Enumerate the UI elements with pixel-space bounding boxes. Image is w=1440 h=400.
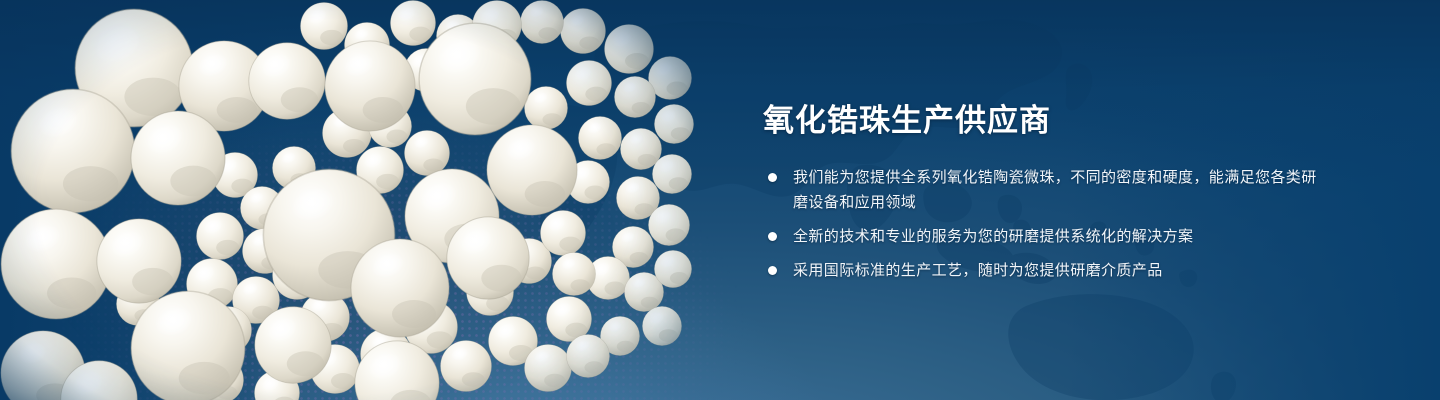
zirconia-beads-photo xyxy=(0,0,720,400)
bullet-dot-icon xyxy=(768,232,777,241)
list-item: 采用国际标准的生产工艺，随时为您提供研磨介质产品 xyxy=(763,258,1323,283)
bullet-dot-icon xyxy=(768,173,777,182)
hero-banner: 氧化锆珠生产供应商 我们能为您提供全系列氧化锆陶瓷微珠，不同的密度和硬度，能满足… xyxy=(0,0,1440,400)
list-item: 我们能为您提供全系列氧化锆陶瓷微珠，不同的密度和硬度，能满足您各类研磨设备和应用… xyxy=(763,165,1323,215)
page-title: 氧化锆珠生产供应商 xyxy=(763,104,1323,139)
list-item-label: 采用国际标准的生产工艺，随时为您提供研磨介质产品 xyxy=(793,258,1323,283)
feature-bullet-list: 我们能为您提供全系列氧化锆陶瓷微珠，不同的密度和硬度，能满足您各类研磨设备和应用… xyxy=(763,165,1323,283)
banner-copy: 氧化锆珠生产供应商 我们能为您提供全系列氧化锆陶瓷微珠，不同的密度和硬度，能满足… xyxy=(763,104,1323,283)
list-item-label: 全新的技术和专业的服务为您的研磨提供系统化的解决方案 xyxy=(793,224,1323,249)
list-item: 全新的技术和专业的服务为您的研磨提供系统化的解决方案 xyxy=(763,224,1323,249)
bullet-dot-icon xyxy=(768,266,777,275)
list-item-label: 我们能为您提供全系列氧化锆陶瓷微珠，不同的密度和硬度，能满足您各类研磨设备和应用… xyxy=(793,165,1323,215)
